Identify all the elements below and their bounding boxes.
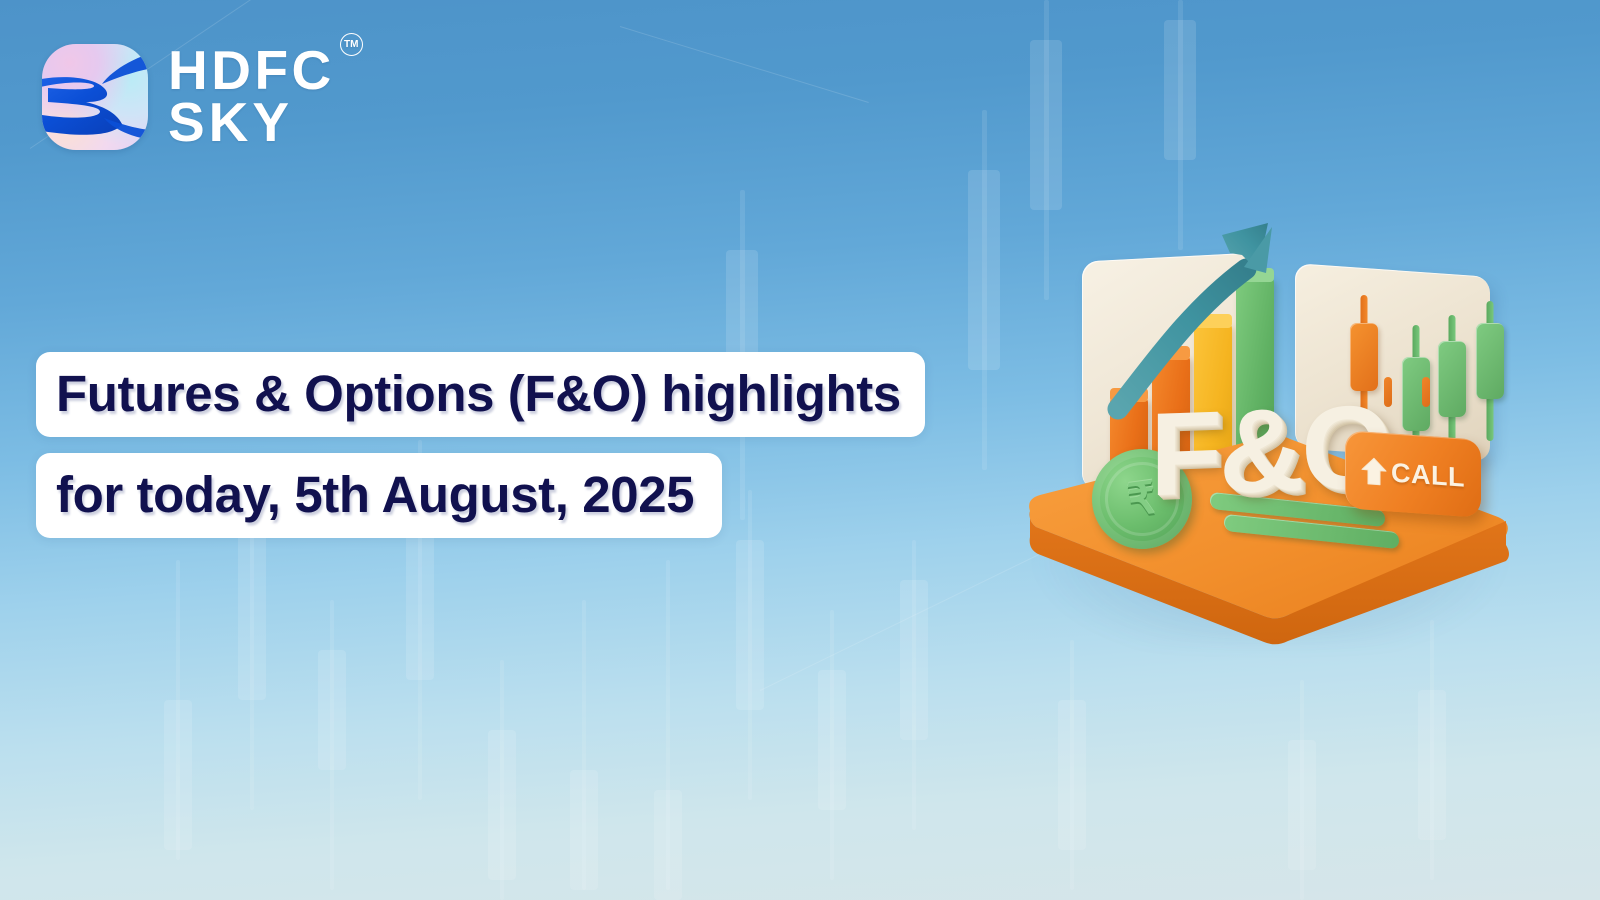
brand-logo[interactable]: HDFC TM SKY bbox=[42, 44, 335, 150]
call-button[interactable]: CALL bbox=[1345, 430, 1481, 518]
brand-name-line2: SKY bbox=[168, 97, 335, 149]
candle-tick-2 bbox=[1422, 377, 1430, 407]
headline-row-1: Futures & Options (F&O) highlights bbox=[36, 352, 925, 437]
headline-panel-2: for today, 5th August, 2025 bbox=[36, 453, 722, 538]
headline-row-2: for today, 5th August, 2025 bbox=[36, 437, 925, 538]
headline-line-2: for today, 5th August, 2025 bbox=[56, 469, 694, 520]
headline-panel-1: Futures & Options (F&O) highlights bbox=[36, 352, 925, 437]
headline-block: Futures & Options (F&O) highlights for t… bbox=[36, 352, 925, 538]
hdfc-sky-swoosh-logo-icon bbox=[42, 44, 148, 150]
headline-line-1: Futures & Options (F&O) highlights bbox=[56, 368, 901, 419]
brand-name-line1: HDFC TM bbox=[168, 45, 335, 97]
arrow-up-icon bbox=[1361, 456, 1387, 486]
candle-green-3 bbox=[1476, 301, 1504, 441]
fno-3d-illustration: ₹ F&O CALL bbox=[1010, 205, 1530, 665]
call-button-label: CALL bbox=[1391, 457, 1465, 493]
trademark-icon: TM bbox=[340, 33, 363, 56]
fno-highlights-banner: HDFC TM SKY Futures & Options (F&O) high… bbox=[0, 0, 1600, 900]
brand-wordmark: HDFC TM SKY bbox=[168, 45, 335, 148]
